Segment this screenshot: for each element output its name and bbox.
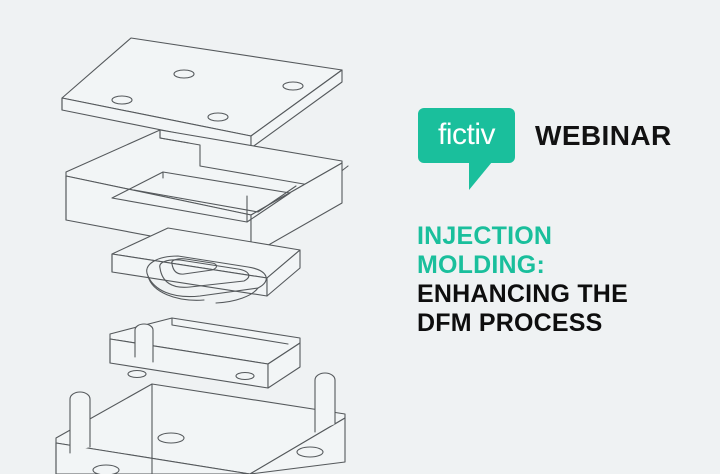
headline-line-4: DFM PROCESS	[417, 309, 717, 338]
page-title: INJECTION MOLDING: ENHANCING THE DFM PRO…	[417, 222, 717, 338]
fictiv-wordmark: fictiv	[438, 120, 495, 150]
headline-line-1: INJECTION	[417, 222, 717, 251]
part-core-plate	[110, 318, 300, 388]
content-panel: fictiv WEBINAR INJECTION MOLDING: ENHANC…	[414, 0, 720, 474]
brand-row: fictiv WEBINAR	[418, 108, 672, 164]
part-ejector-base-plate	[56, 373, 345, 474]
part-top-clamping-plate	[62, 38, 342, 148]
webinar-title-card: fictiv WEBINAR INJECTION MOLDING: ENHANC…	[0, 0, 720, 474]
headline-line-3: ENHANCING THE	[417, 280, 717, 309]
headline-line-2: MOLDING:	[417, 251, 717, 280]
webinar-label: WEBINAR	[535, 108, 672, 163]
fictiv-logo: fictiv	[418, 108, 515, 163]
speech-bubble-tail-icon	[469, 162, 492, 190]
exploded-mold-illustration	[0, 0, 400, 474]
